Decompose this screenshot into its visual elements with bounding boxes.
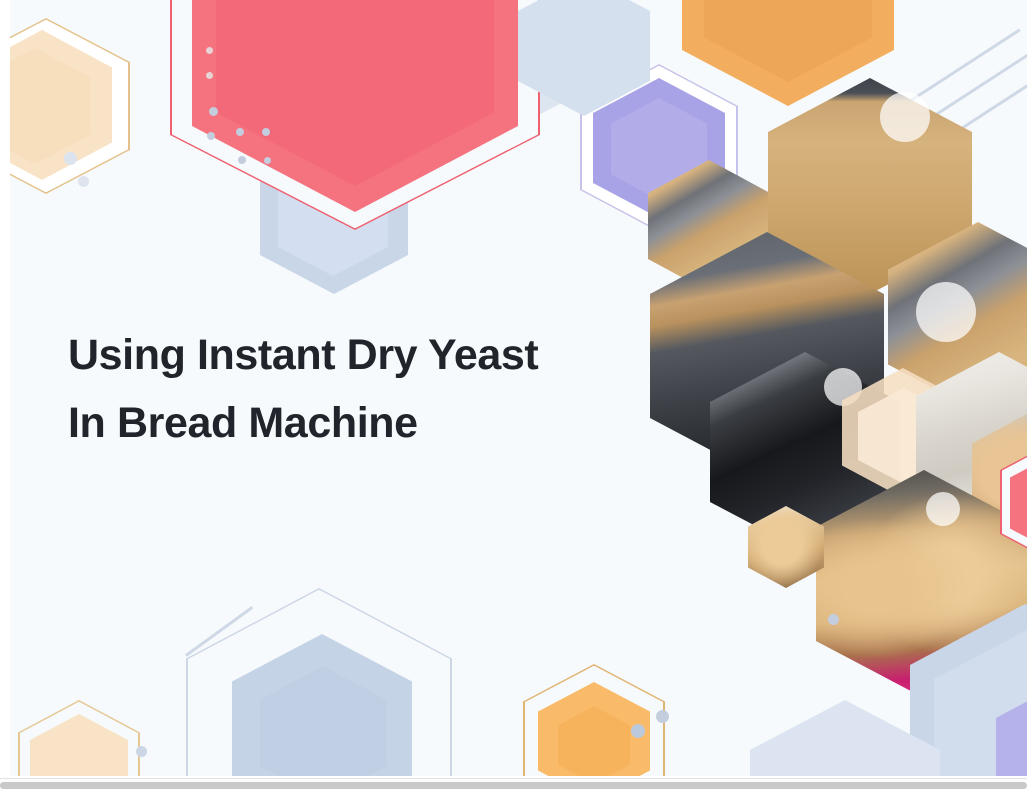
slide-page: Using Instant Dry Yeast In Bread Machine [0,0,1027,790]
headline-line-1: Using Instant Dry Yeast [68,322,668,390]
decor-dot [136,746,147,757]
horizontal-scrollbar[interactable] [0,778,1027,790]
decor-dot [209,107,218,116]
decor-dot [64,152,77,165]
slide-canvas: Using Instant Dry Yeast In Bread Machine [10,0,1027,776]
decor-dot [238,156,246,164]
decor-dot [206,72,213,79]
decor-dot [262,128,270,136]
decor-white-circle [916,282,976,342]
scrollbar-thumb[interactable] [0,782,1027,789]
decor-dot [78,176,89,187]
decor-dot [828,614,839,625]
decor-white-circle [880,92,930,142]
decor-white-circle [926,492,960,526]
decor-dot [264,157,271,164]
decor-dot [631,724,645,738]
decor-dot [207,132,215,140]
decor-dot [656,710,669,723]
decor-dot [206,47,213,54]
decor-dot [236,128,244,136]
headline-line-2: In Bread Machine [68,390,668,458]
page-title: Using Instant Dry Yeast In Bread Machine [68,322,668,458]
